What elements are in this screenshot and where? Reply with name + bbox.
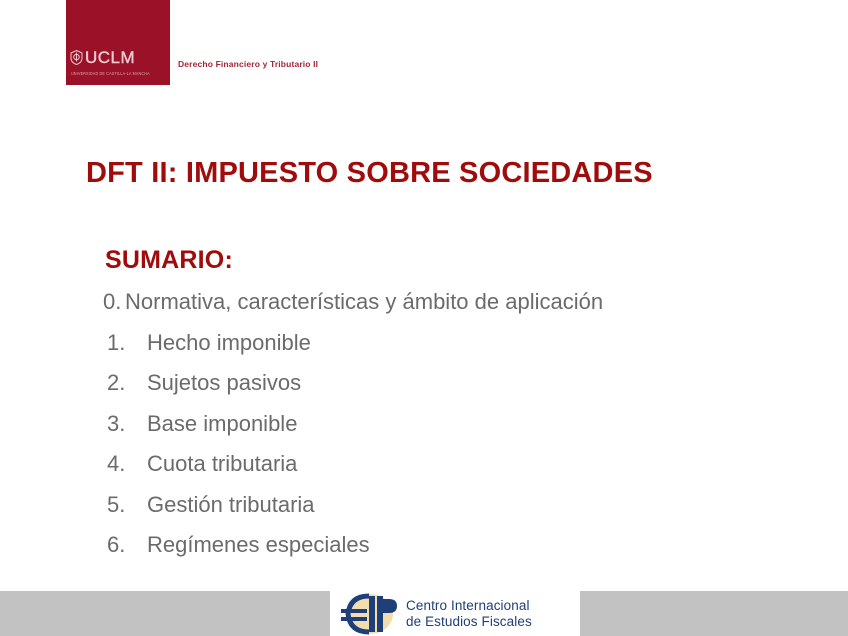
shield-icon (70, 50, 83, 65)
outline-item-label: Cuota tributaria (147, 451, 297, 477)
cief-name-line1: Centro Internacional (406, 598, 532, 614)
cief-logo: Centro Internacional de Estudios Fiscale… (330, 591, 580, 636)
outline-item: 4.Cuota tributaria (103, 451, 803, 492)
page-title: DFT II: IMPUESTO SOBRE SOCIEDADES (86, 157, 653, 190)
outline-item-label: Hecho imponible (147, 330, 311, 356)
cief-emblem-icon (339, 593, 401, 635)
uclm-logo: UCLM UNIVERSIDAD DE CASTILLA-LA MANCHA (66, 0, 170, 85)
outline-item-number: 3. (103, 411, 133, 437)
uclm-subtitle: UNIVERSIDAD DE CASTILLA-LA MANCHA (71, 71, 171, 76)
outline-item-label: Regímenes especiales (147, 532, 370, 558)
presentation-slide: UCLM UNIVERSIDAD DE CASTILLA-LA MANCHA D… (0, 0, 848, 636)
outline-item-number: 0. (103, 289, 123, 315)
outline-item-label: Base imponible (147, 411, 297, 437)
outline-item-number: 4. (103, 451, 133, 477)
cief-name-line2: de Estudios Fiscales (406, 614, 532, 630)
uclm-letters: UCLM (85, 49, 135, 66)
outline-item: 1.Hecho imponible (103, 330, 803, 371)
outline-list: 0.Normativa, características y ámbito de… (103, 289, 803, 573)
outline-item-number: 1. (103, 330, 133, 356)
outline-item: 0.Normativa, características y ámbito de… (103, 289, 803, 330)
outline-item-number: 2. (103, 370, 133, 396)
summary-heading: SUMARIO: (105, 246, 233, 275)
outline-item: 2.Sujetos pasivos (103, 370, 803, 411)
outline-item: 3.Base imponible (103, 411, 803, 452)
outline-item-number: 5. (103, 492, 133, 518)
outline-item-label: Normativa, características y ámbito de a… (125, 289, 603, 315)
outline-item: 6.Regímenes especiales (103, 532, 803, 573)
outline-item-label: Gestión tributaria (147, 492, 315, 518)
outline-item-label: Sujetos pasivos (147, 370, 301, 396)
outline-item: 5.Gestión tributaria (103, 492, 803, 533)
uclm-wordmark: UCLM (70, 46, 166, 68)
course-title: Derecho Financiero y Tributario II (178, 59, 318, 69)
outline-item-number: 6. (103, 532, 133, 558)
slide-header: UCLM UNIVERSIDAD DE CASTILLA-LA MANCHA D… (0, 0, 848, 86)
cief-name: Centro Internacional de Estudios Fiscale… (406, 598, 532, 630)
